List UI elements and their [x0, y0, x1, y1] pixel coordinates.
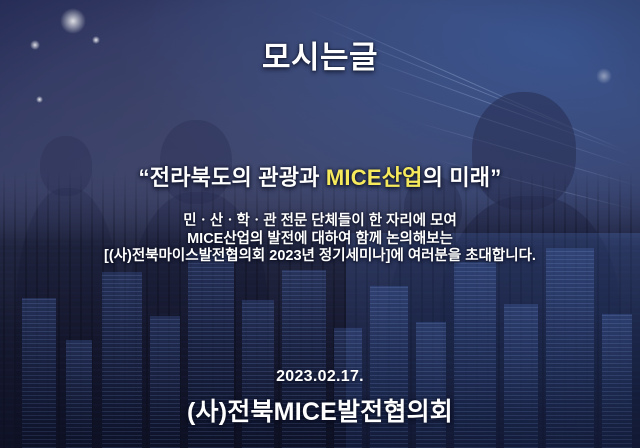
headline-text-before: 전라북도의 관광과: [150, 165, 326, 190]
headline: “전라북도의 관광과 MICE산업의 미래”: [0, 160, 640, 192]
event-date: 2023.02.17.: [0, 368, 640, 386]
headline-close-quote: ”: [490, 165, 501, 190]
body-text: 민ㆍ산ㆍ학ㆍ관 전문 단체들이 한 자리에 모여 MICE산업의 발전에 대하여…: [0, 213, 640, 266]
poster-content: 모시는글 “전라북도의 관광과 MICE산업의 미래” 민ㆍ산ㆍ학ㆍ관 전문 단…: [0, 0, 640, 448]
headline-text-after: 의 미래: [423, 165, 491, 190]
seminar-invitation-poster: 모시는글 “전라북도의 관광과 MICE산업의 미래” 민ㆍ산ㆍ학ㆍ관 전문 단…: [0, 0, 640, 448]
body-line-1: 민ㆍ산ㆍ학ㆍ관 전문 단체들이 한 자리에 모여: [0, 213, 640, 231]
body-line-3: [(사)전북마이스발전협의회 2023년 정기세미나]에 여러분을 초대합니다.: [0, 248, 640, 266]
headline-highlight: MICE산업: [326, 165, 423, 190]
body-line-2: MICE산업의 발전에 대하여 함께 논의해보는: [0, 231, 640, 249]
organization-name: (사)전북MICE발전협의회: [0, 392, 640, 428]
page-title: 모시는글: [0, 32, 640, 77]
headline-open-quote: “: [139, 165, 150, 190]
